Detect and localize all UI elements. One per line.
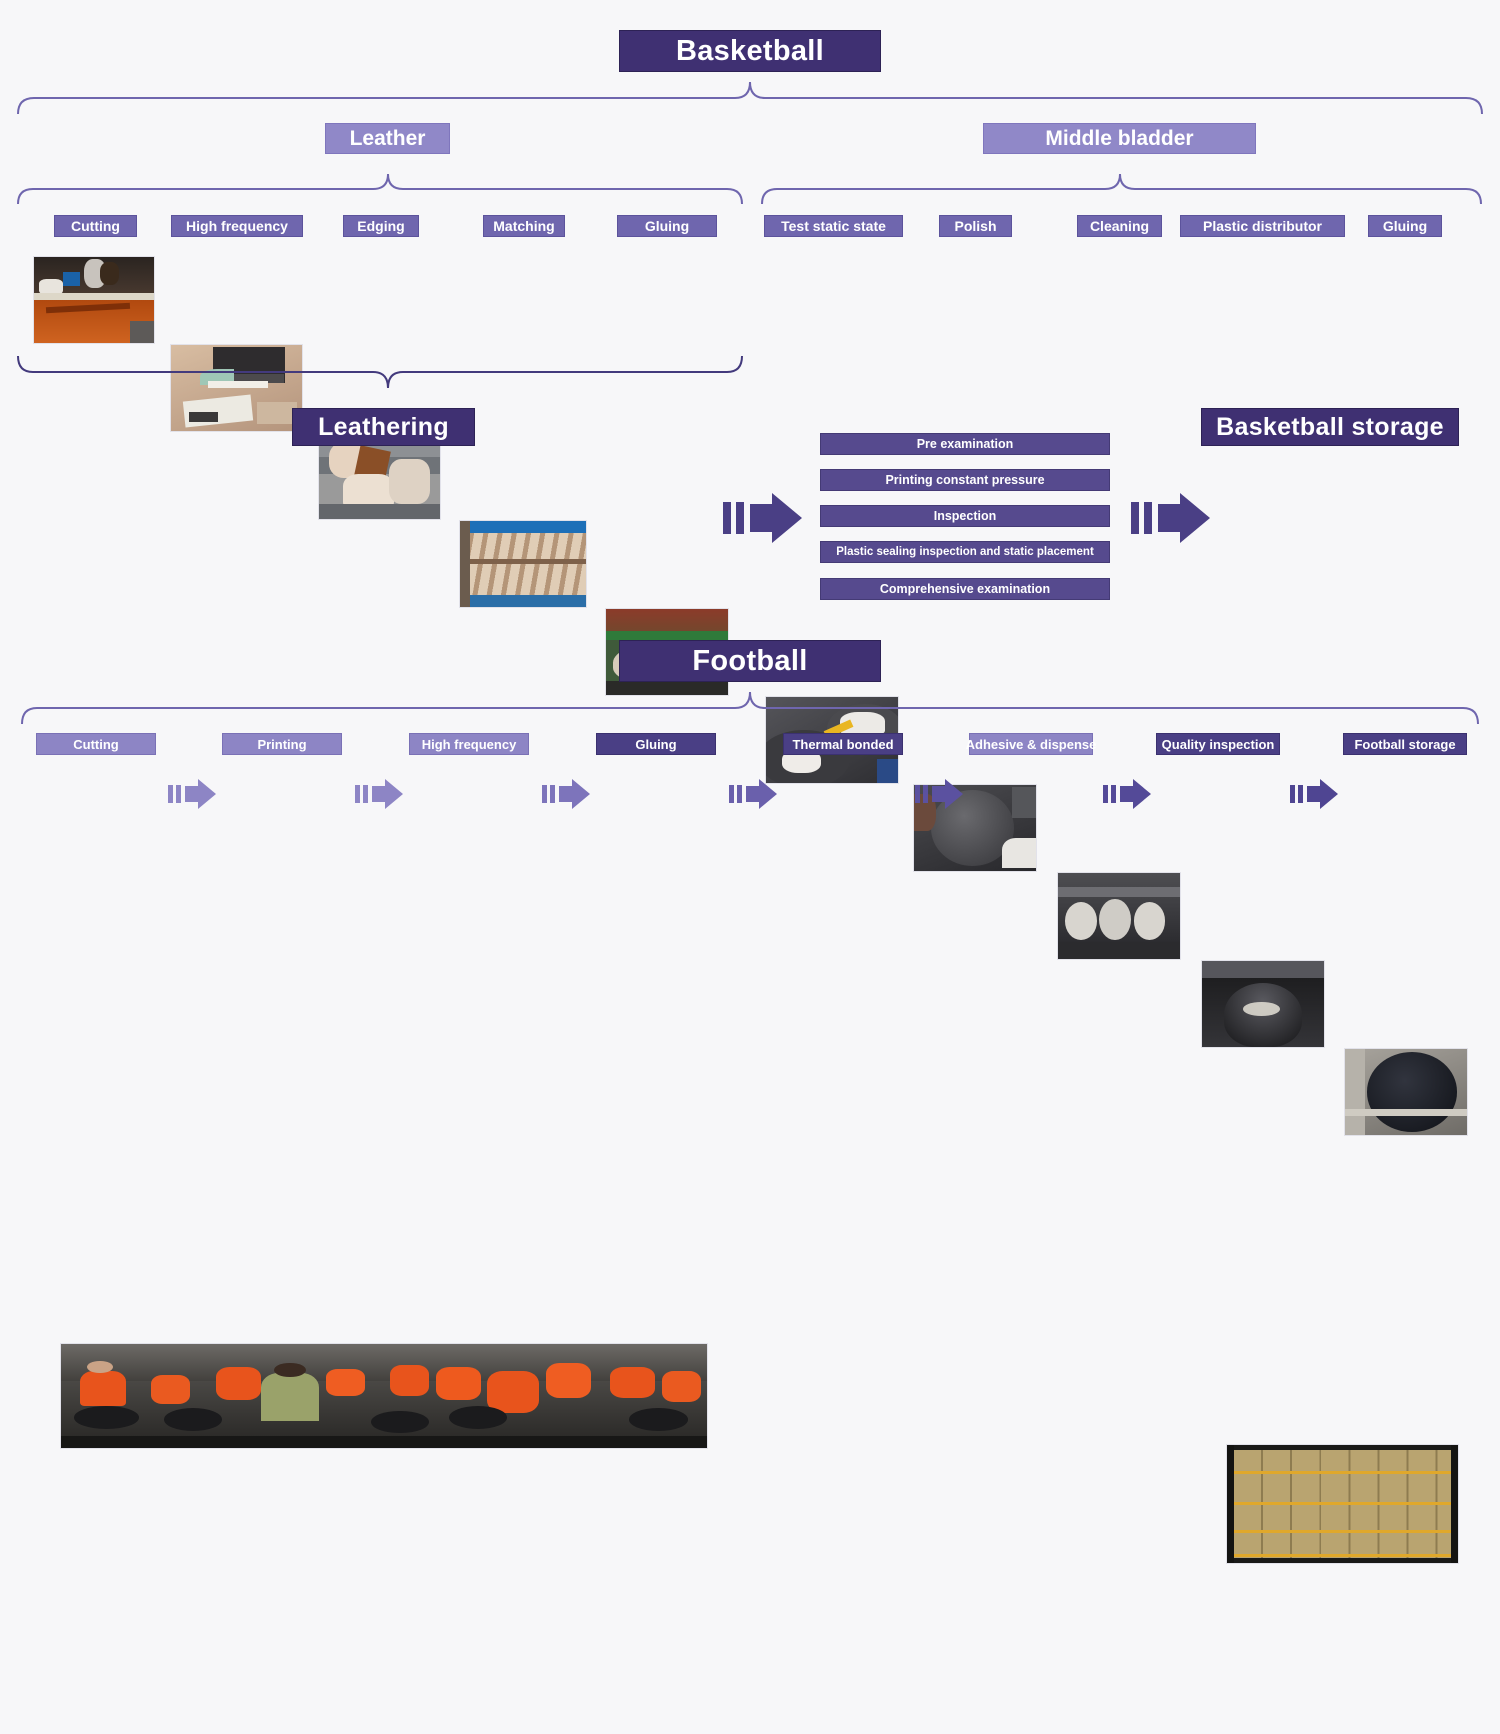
step-chip-bladder-cleaning: Cleaning <box>1077 215 1162 237</box>
photo-bladder-plastic-distributor <box>1201 960 1325 1048</box>
arrow-football-4 <box>729 778 779 810</box>
process-chip-comprehensive-examination: Comprehensive examination <box>820 578 1110 600</box>
arrow-football-5 <box>915 778 965 810</box>
fb-chip-adhesive-dispense: Adhesive & dispense <box>969 733 1093 755</box>
photo-basketball-storage-boxes <box>1226 1444 1459 1564</box>
arrow-football-3 <box>542 778 592 810</box>
basketball-brace <box>0 78 1500 118</box>
middle-bladder-brace <box>755 170 1500 208</box>
fb-chip-printing: Printing <box>222 733 342 755</box>
step-chip-bladder-gluing: Gluing <box>1368 215 1442 237</box>
step-chip-bladder-polish: Polish <box>939 215 1012 237</box>
basketball-storage-title: Basketball storage <box>1201 408 1459 446</box>
process-chip-printing-constant-pressure: Printing constant pressure <box>820 469 1110 491</box>
photo-bladder-gluing <box>1344 1048 1468 1136</box>
football-brace <box>10 688 1490 728</box>
step-chip-leather-cutting: Cutting <box>54 215 137 237</box>
arrow-football-6 <box>1103 778 1153 810</box>
photo-bladder-cleaning <box>1057 872 1181 960</box>
fb-chip-gluing: Gluing <box>596 733 716 755</box>
photo-leather-cutting <box>33 256 155 344</box>
fb-chip-quality-inspection: Quality inspection <box>1156 733 1280 755</box>
step-chip-leather-edging: Edging <box>343 215 419 237</box>
arrow-football-1 <box>168 778 218 810</box>
photo-leathering-factory-line <box>60 1343 708 1449</box>
step-chip-bladder-plastic-distributor: Plastic distributor <box>1180 215 1345 237</box>
leather-brace <box>0 170 760 208</box>
process-chip-inspection: Inspection <box>820 505 1110 527</box>
branch-leather: Leather <box>325 123 450 154</box>
arrow-football-7 <box>1290 778 1340 810</box>
fb-chip-cutting: Cutting <box>36 733 156 755</box>
arrow-to-basketball-storage <box>1130 492 1212 544</box>
leathering-title: Leathering <box>292 408 475 446</box>
fb-chip-high-frequency: High frequency <box>409 733 529 755</box>
leathering-brace <box>0 352 760 392</box>
arrow-to-process-list <box>722 492 804 544</box>
process-chip-plastic-sealing-inspection: Plastic sealing inspection and static pl… <box>820 541 1110 563</box>
step-chip-leather-matching: Matching <box>483 215 565 237</box>
step-chip-leather-high-frequency: High frequency <box>171 215 303 237</box>
arrow-football-2 <box>355 778 405 810</box>
fb-chip-thermal-bonded: Thermal bonded <box>783 733 903 755</box>
process-chip-pre-examination: Pre examination <box>820 433 1110 455</box>
step-chip-bladder-test-static-state: Test static state <box>764 215 903 237</box>
branch-middle-bladder: Middle bladder <box>983 123 1256 154</box>
photo-leather-matching <box>459 520 587 608</box>
basketball-title: Basketball <box>619 30 881 72</box>
fb-chip-football-storage: Football storage <box>1343 733 1467 755</box>
football-title: Football <box>619 640 881 682</box>
step-chip-leather-gluing: Gluing <box>617 215 717 237</box>
photo-leather-high-frequency <box>170 344 303 432</box>
